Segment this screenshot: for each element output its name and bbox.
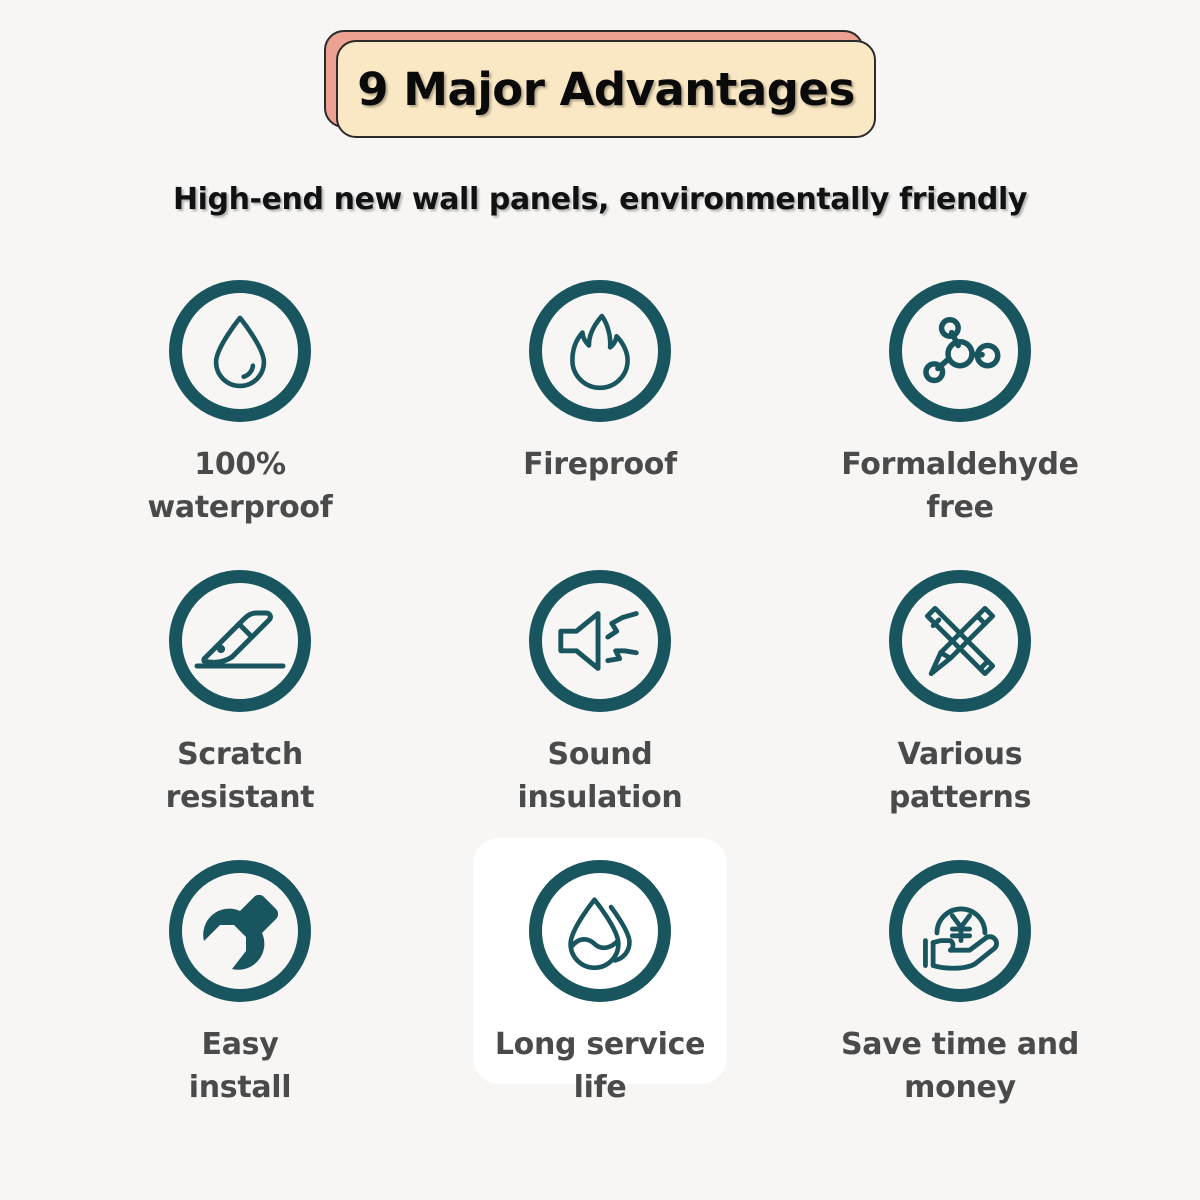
crossed-pencils-icon (889, 570, 1031, 712)
speaker-sound-icon (529, 570, 671, 712)
advantage-label: Scratch resistant (166, 734, 315, 819)
wrench-icon (169, 860, 311, 1002)
advantage-label: Sound insulation (518, 734, 683, 819)
advantage-label: Easy install (189, 1024, 292, 1109)
advantage-item-sound-insulation[interactable]: Sound insulation (420, 570, 780, 860)
advantage-label: 100% waterproof (148, 444, 333, 529)
water-drop-icon (169, 280, 311, 422)
advantage-label: Save time and money (841, 1024, 1079, 1109)
advantage-label: Fireproof (523, 444, 677, 487)
advantage-item-save-time-and-money[interactable]: Save time and money (780, 860, 1140, 1150)
advantage-label: Formaldehyde free (841, 444, 1078, 529)
advantages-grid: 100% waterproof Fireproof (60, 280, 1140, 1150)
advantage-item-formaldehyde-free[interactable]: Formaldehyde free (780, 280, 1140, 570)
advantage-item-fireproof[interactable]: Fireproof (420, 280, 780, 570)
advantage-item-scratch-resistant[interactable]: Scratch resistant (60, 570, 420, 860)
advantage-item-various-patterns[interactable]: Various patterns (780, 570, 1140, 860)
hand-holding-yen-coin-icon (889, 860, 1031, 1002)
banner-face-layer: 9 Major Advantages (336, 40, 876, 138)
advantage-item-waterproof[interactable]: 100% waterproof (60, 280, 420, 570)
page-title: 9 Major Advantages (357, 63, 855, 116)
title-banner: 9 Major Advantages (0, 30, 1200, 138)
advantage-label: Various patterns (889, 734, 1031, 819)
advantage-item-easy-install[interactable]: Easy install (60, 860, 420, 1150)
flame-icon (529, 280, 671, 422)
molecule-icon (889, 280, 1031, 422)
knife-surface-icon (169, 570, 311, 712)
advantage-label: Long service life (495, 1024, 705, 1109)
page-subtitle: High-end new wall panels, environmentall… (0, 182, 1200, 217)
double-droplet-icon (529, 860, 671, 1002)
advantage-item-long-service-life[interactable]: Long service life (420, 860, 780, 1150)
